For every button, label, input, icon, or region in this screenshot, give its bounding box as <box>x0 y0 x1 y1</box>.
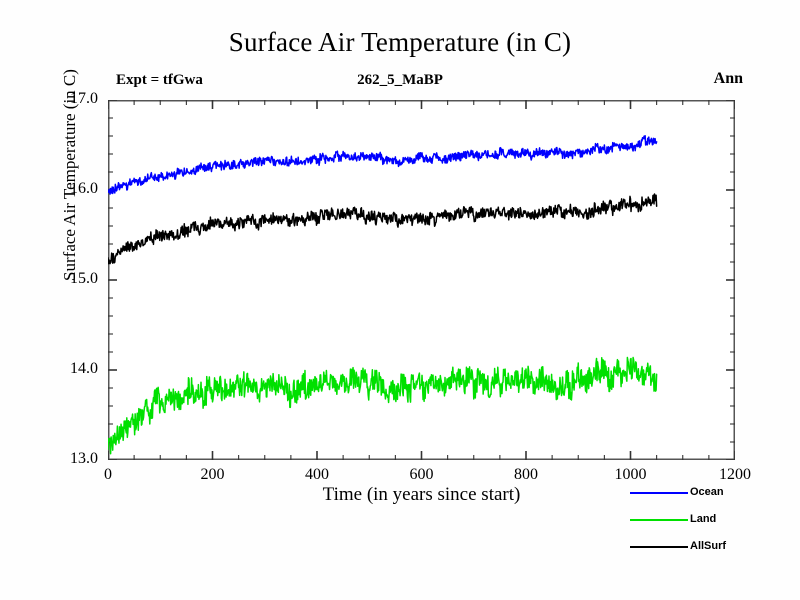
x-tick-label: 1200 <box>695 466 775 484</box>
chart-subtitle: 262_5_MaBP <box>0 72 800 89</box>
chart-canvas: Surface Air Temperature (in C) Expt = tf… <box>0 0 800 600</box>
x-tick-label: 0 <box>68 466 148 484</box>
series-plot <box>108 100 735 460</box>
y-tick-label: 14.0 <box>42 360 98 378</box>
legend-item-label: AllSurf <box>690 537 726 556</box>
legend-item-label: Land <box>690 510 716 529</box>
legend-item-label: Ocean <box>690 483 724 502</box>
legend-item: AllSurf <box>628 537 798 559</box>
plot-area <box>108 100 735 460</box>
y-tick-label: 17.0 <box>42 90 98 108</box>
x-tick-label: 600 <box>382 466 462 484</box>
y-tick-label: 16.0 <box>42 180 98 198</box>
legend: OceanLandAllSurf <box>628 483 798 563</box>
period-label: Ann <box>714 70 743 88</box>
x-tick-label: 1000 <box>591 466 671 484</box>
legend-color-swatch <box>630 519 688 521</box>
legend-item: Land <box>628 510 798 532</box>
legend-item: Ocean <box>628 483 798 505</box>
x-tick-label: 800 <box>486 466 566 484</box>
y-tick-label: 15.0 <box>42 270 98 288</box>
legend-color-swatch <box>630 546 688 548</box>
page-title: Surface Air Temperature (in C) <box>0 27 800 58</box>
x-tick-label: 400 <box>277 466 357 484</box>
legend-color-swatch <box>630 492 688 494</box>
x-tick-label: 200 <box>173 466 253 484</box>
